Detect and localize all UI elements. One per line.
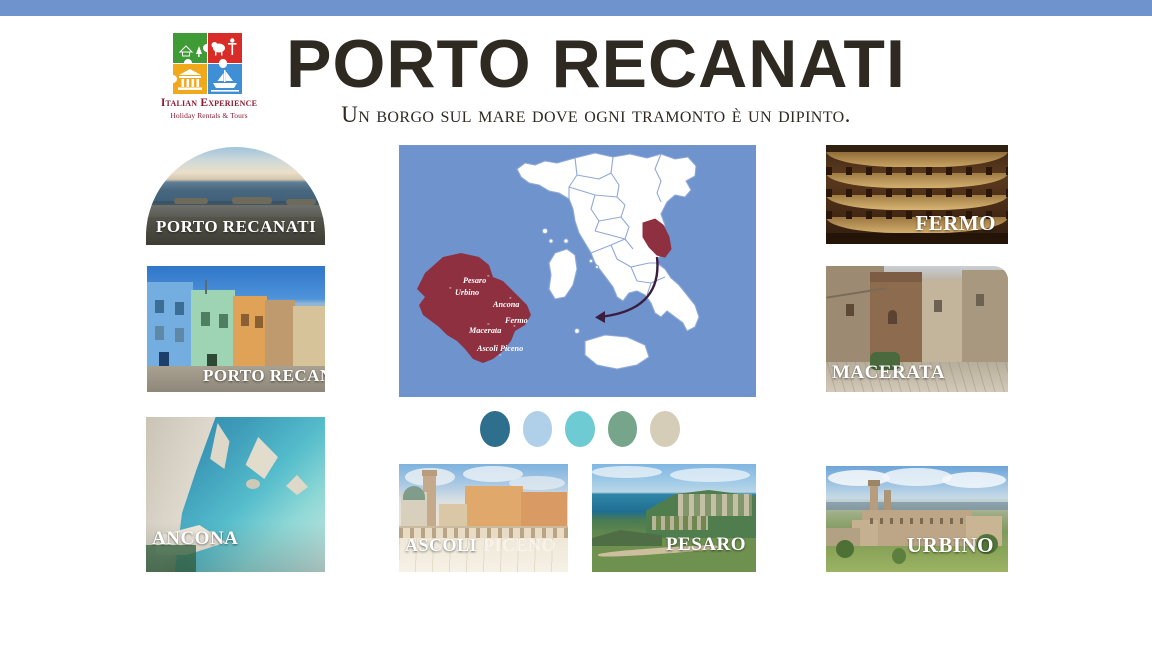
- page-subtitle: Un borgo sul mare dove ogni tramonto è u…: [246, 102, 946, 128]
- swatch-light-blue[interactable]: [523, 411, 553, 447]
- svg-text:◦: ◦: [509, 294, 511, 302]
- swatch-sage-green[interactable]: [608, 411, 638, 447]
- map-label-macerata: Macerata: [468, 326, 501, 335]
- card-caption-ascoli: ASCOLIPICENO: [405, 535, 556, 556]
- card-caption-ancona: ANCONA: [152, 528, 238, 550]
- card-caption-macerata: MACERATA: [832, 362, 945, 384]
- map-label-ancona: Ancona: [492, 300, 519, 309]
- color-palette: [480, 411, 680, 447]
- card-caption-ascoli-main: ASCOLI: [405, 535, 477, 555]
- map-label-pesaro: Pesaro: [463, 276, 486, 285]
- boat-water-icon: [208, 64, 242, 94]
- top-accent-bar: [0, 0, 1152, 16]
- swatch-deep-teal[interactable]: [480, 411, 510, 447]
- animals-icon: [208, 33, 242, 63]
- card-ascoli[interactable]: ASCOLIPICENO: [399, 464, 568, 572]
- svg-text:◦: ◦: [499, 351, 501, 359]
- italy-map[interactable]: Pesaro Urbino Ancona Fermo Macerata Asco…: [399, 145, 756, 397]
- card-porto-recanati-houses[interactable]: PORTO RECANATI: [147, 266, 325, 392]
- map-label-fermo: Fermo: [504, 316, 528, 325]
- card-caption-urbino: URBINO: [907, 533, 994, 558]
- svg-text:◦: ◦: [487, 320, 489, 328]
- svg-text:◦: ◦: [449, 284, 451, 292]
- house-trees-icon: [173, 33, 207, 63]
- card-caption-porto-recanati-beach: PORTO RECANATI: [156, 217, 316, 237]
- card-porto-recanati-beach[interactable]: PORTO RECANATI: [146, 147, 325, 245]
- map-label-urbino: Urbino: [455, 288, 479, 297]
- puzzle-logo-icon: [173, 33, 243, 95]
- card-caption-porto-recanati-houses: PORTO RECANATI: [203, 366, 325, 386]
- card-pesaro[interactable]: PESARO: [592, 464, 756, 572]
- card-caption-ascoli-secondary: PICENO: [483, 535, 556, 555]
- swatch-turquoise[interactable]: [565, 411, 595, 447]
- card-macerata[interactable]: MACERATA: [826, 266, 1008, 392]
- swatch-sand-beige[interactable]: [650, 411, 680, 447]
- card-caption-pesaro: PESARO: [666, 534, 746, 556]
- svg-text:◦: ◦: [487, 272, 489, 280]
- card-ancona[interactable]: ANCONA: [146, 417, 325, 572]
- card-fermo[interactable]: FERMO: [826, 145, 1008, 244]
- temple-column-icon: [173, 64, 207, 94]
- card-caption-fermo: FERMO: [915, 211, 996, 236]
- page-title: PORTO RECANATI: [276, 30, 916, 98]
- card-urbino[interactable]: URBINO: [826, 466, 1008, 572]
- page-header: Italian Experience Holiday Rentals & Tou…: [0, 16, 1152, 128]
- svg-text:◦: ◦: [513, 322, 515, 330]
